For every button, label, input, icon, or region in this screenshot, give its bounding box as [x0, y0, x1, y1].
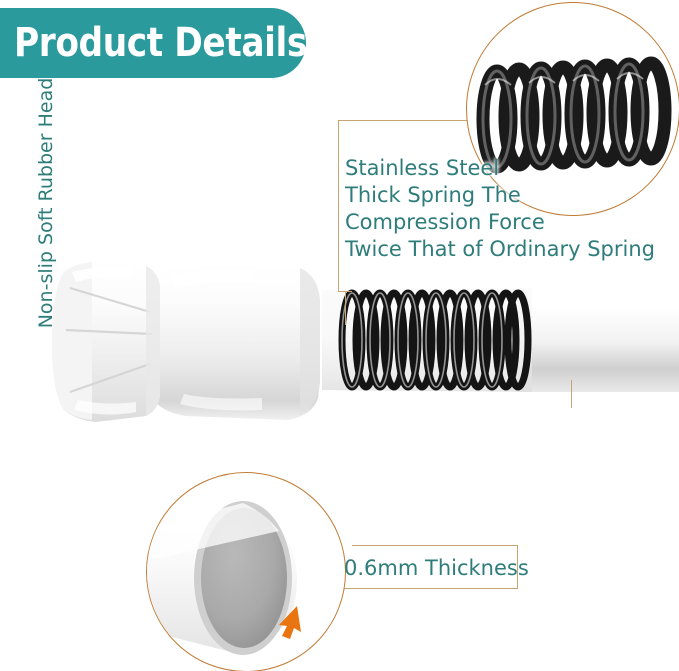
- rubber-head: [52, 260, 160, 422]
- product-details-image: Product Details Non-slip Soft Rubber Hea…: [0, 0, 679, 671]
- product-details-banner: Product Details: [0, 8, 306, 78]
- spring-callout-line-vertical: [338, 120, 339, 292]
- rod-spring: [342, 293, 528, 387]
- spring-callout-line-3: Compression Force: [345, 209, 655, 236]
- spring-callout-line-4: Twice That of Ordinary Spring: [345, 236, 655, 263]
- thickness-callout-line-top: [352, 545, 518, 546]
- spring-callout-line-2: Thick Spring The: [345, 182, 655, 209]
- spring-callout-pointer-right: [571, 380, 572, 408]
- spring-callout-line-1: Stainless Steel: [345, 155, 655, 182]
- thickness-callout-text: 0.6mm Thickness: [344, 556, 529, 580]
- spring-callout-text: Stainless Steel Thick Spring The Compres…: [345, 155, 655, 263]
- rod-tube: [512, 288, 679, 392]
- spring-sleeve: [322, 288, 532, 392]
- rod-collar: [152, 262, 320, 420]
- magnified-tube-illustration: [147, 473, 345, 671]
- tube-magnifier-circle: [146, 472, 346, 671]
- spring-callout-pointer-left: [345, 291, 346, 325]
- thickness-callout-line-bottom: [318, 588, 518, 589]
- banner-title: Product Details: [14, 23, 307, 63]
- spring-callout-line-top: [338, 120, 488, 121]
- rubber-head-label: Non-slip Soft Rubber Head: [35, 73, 57, 333]
